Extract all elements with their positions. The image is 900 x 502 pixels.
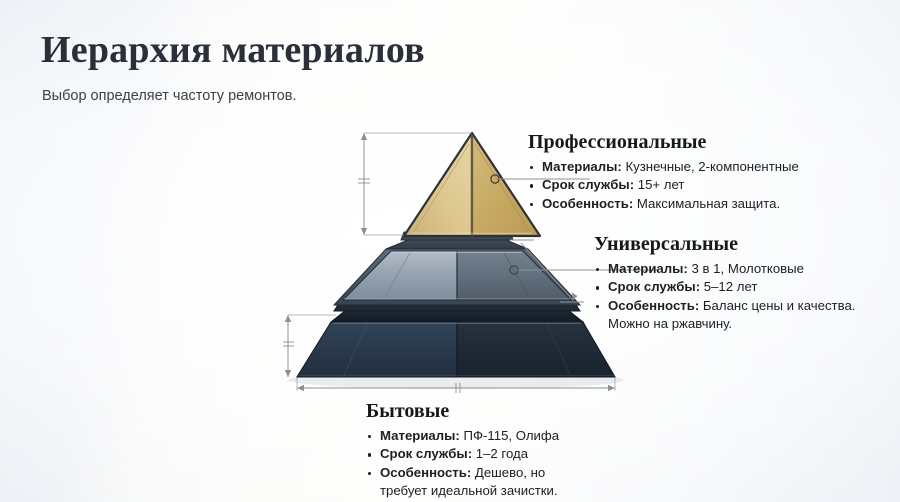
bullet-label: Материалы: [608,261,688,276]
list-item: Срок службы: 15+ лет [528,176,799,194]
tier-professional-left-face [404,133,472,236]
bullet-list-professional: Материалы: Кузнечные, 2-компонентные Сро… [528,158,799,213]
bullet-value: Баланс цены и качества. [703,298,856,313]
list-item-continuation: Можно на ржавчину. [594,315,855,333]
bullet-value: 3 в 1, Молотковые [691,261,804,276]
tier-domestic-right-face [457,322,615,377]
bullet-value: 15+ лет [638,177,685,192]
tier-universal-left-face [343,251,457,300]
bullet-value: Дешево, но [475,465,545,480]
pyramid-tier-universal[interactable] [334,238,580,311]
list-item-continuation: требует идеальной зачистки. [366,482,559,500]
bullet-value: 1–2 года [476,446,528,461]
bullet-value: ПФ-115, Олифа [463,428,559,443]
bullet-label: Срок службы: [380,446,472,461]
bullet-value: 5–12 лет [704,279,758,294]
tier-domestic-top-face [331,310,583,322]
bullet-label: Особенность: [542,196,633,211]
bullet-label: Срок службы: [608,279,700,294]
list-item: Срок службы: 1–2 года [366,445,559,463]
list-item: Срок службы: 5–12 лет [594,278,855,296]
list-item: Особенность: Дешево, но [366,464,559,482]
tier-universal-right-face [457,251,571,300]
heading-universal: Универсальные [594,231,855,257]
bullet-list-universal: Материалы: 3 в 1, Молотковые Срок службы… [594,260,855,334]
pyramid-tier-professional[interactable] [401,133,540,240]
list-item: Материалы: Кузнечные, 2-компонентные [528,158,799,176]
bullet-list-domestic: Материалы: ПФ-115, Олифа Срок службы: 1–… [366,427,559,501]
heading-domestic: Бытовые [366,398,559,424]
list-item: Особенность: Максимальная защита. [528,195,799,213]
bullet-label: Материалы: [542,159,622,174]
tier-domestic-left-face [297,322,457,377]
slide-canvas: Иерархия материалов Выбор определяет час… [0,0,900,502]
bullet-label: Материалы: [380,428,460,443]
bullet-label: Особенность: [380,465,471,480]
bullet-value: Максимальная защита. [637,196,780,211]
text-block-domestic: Бытовые Материалы: ПФ-115, Олифа Срок сл… [366,398,559,501]
pyramid-tier-domestic[interactable] [297,310,615,377]
text-block-professional: Профессиональные Материалы: Кузнечные, 2… [528,129,799,213]
list-item: Материалы: ПФ-115, Олифа [366,427,559,445]
text-block-universal: Универсальные Материалы: 3 в 1, Молотков… [594,231,855,334]
list-item: Материалы: 3 в 1, Молотковые [594,260,855,278]
bullet-label: Особенность: [608,298,699,313]
bullet-label: Срок службы: [542,177,634,192]
bullet-value: Кузнечные, 2-компонентные [625,159,798,174]
list-item: Особенность: Баланс цены и качества. [594,297,855,315]
heading-professional: Профессиональные [528,129,799,155]
